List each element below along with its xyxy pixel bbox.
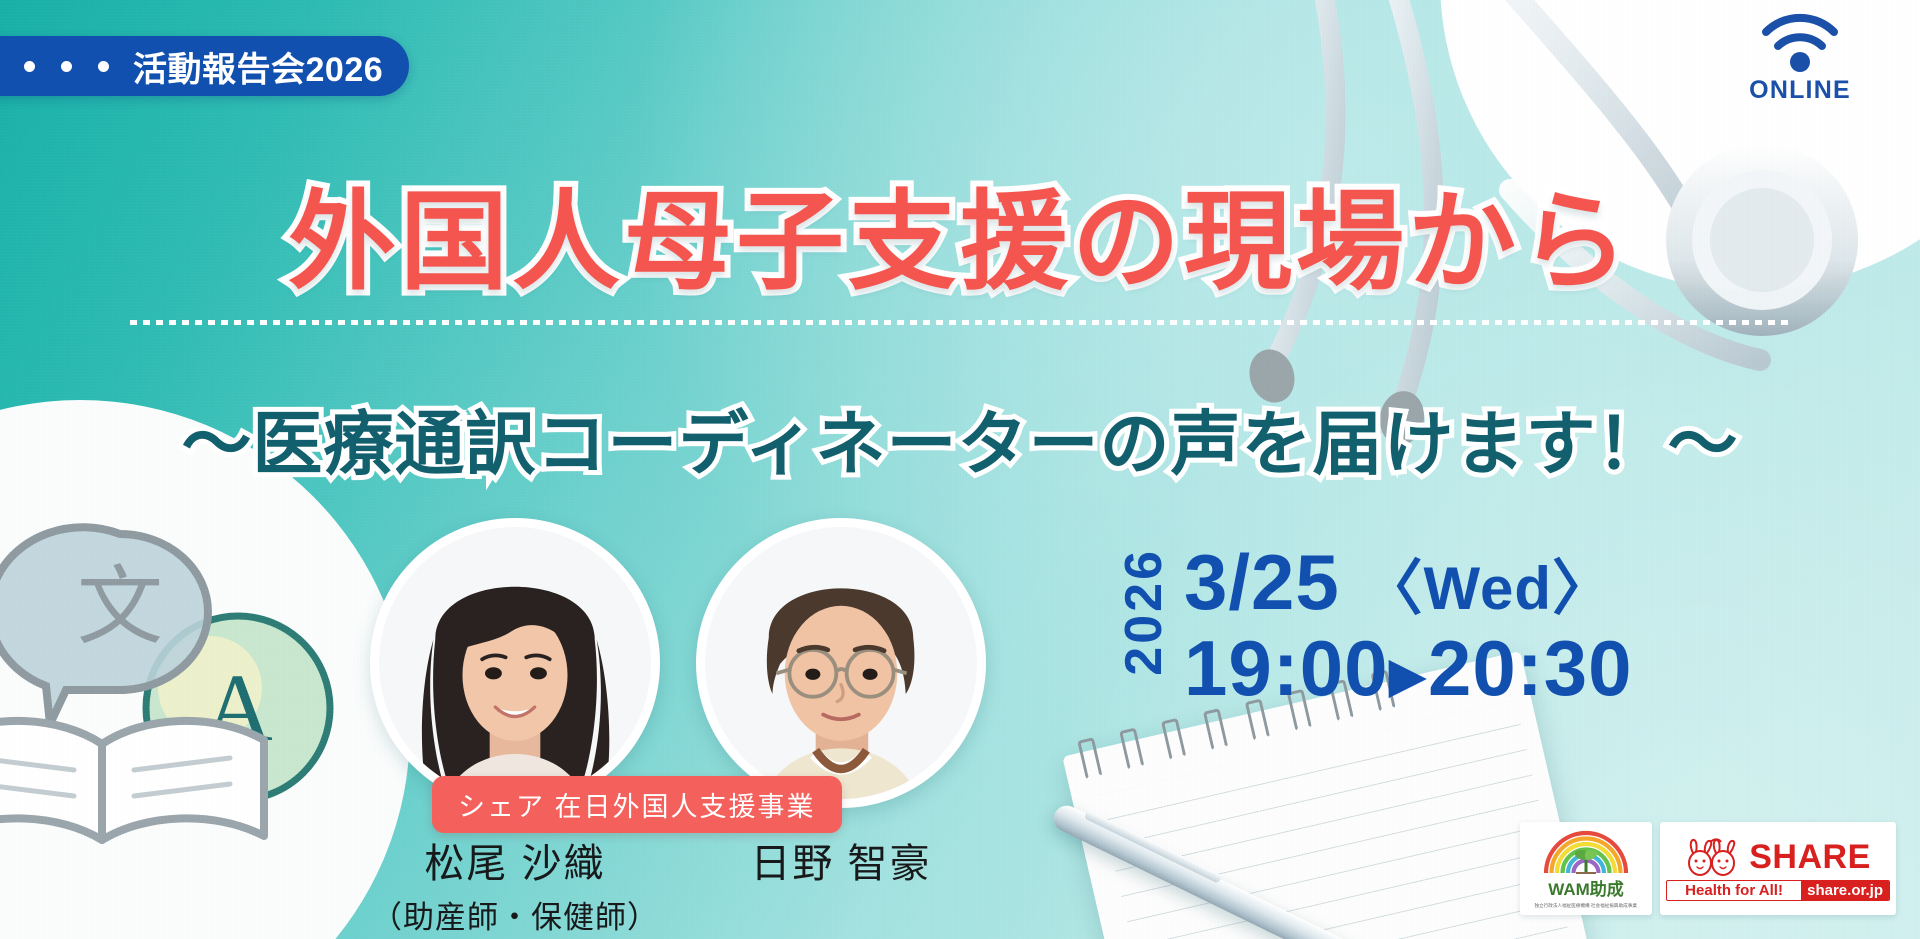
speaker-name: 日野 智豪 [696,840,986,888]
org-badge: シェア 在日外国人支援事業 [432,776,842,833]
ballpoint-pen-icon [1049,801,1384,939]
event-time-line: 19:00▶20:30 [1184,626,1632,710]
notepad-lines [1098,699,1570,939]
wam-logo: WAM助成 独立行政法人福祉医療機構 社会福祉振興助成事業 [1520,822,1652,915]
dotted-divider [130,320,1790,325]
page-subtitle: 〜医療通訳コーディネーターの声を届けます！〜 [0,406,1920,483]
speaker-name-block: 松尾 沙織 （助産師・保健師） [370,840,660,937]
ribbon-label: 活動報告会2026 [133,42,383,91]
event-time-end: 20:30 [1428,624,1633,712]
online-badge: ONLINE [1736,10,1864,105]
speaker-photos [370,518,1050,808]
event-year: 2026 [1118,548,1170,676]
report-meeting-ribbon: 活動報告会2026 [0,36,409,96]
speaker-portrait-icon [370,518,660,808]
speaker-name-block: 日野 智豪 [696,840,986,937]
share-logo: SHARE Health for All! share.or.jp [1660,822,1896,915]
share-url: share.or.jp [1801,881,1889,900]
event-datetime: 2026 3/25 〈Wed〉 19:00▶20:30 [1118,540,1632,710]
speaker-portrait-icon [696,518,986,808]
svg-text:文: 文 [77,557,163,657]
sponsor-logos: WAM助成 独立行政法人福祉医療機構 社会福祉振興助成事業 [1520,822,1896,915]
page-title: 外国人母子支援の現場から [0,184,1920,301]
online-label: ONLINE [1736,76,1864,105]
event-datetime-lines: 3/25 〈Wed〉 19:00▶20:30 [1184,540,1632,710]
three-dots-icon [24,61,109,72]
speaker-name: 松尾 沙織 [370,840,660,888]
wam-logo-label: WAM助成 [1548,880,1624,899]
event-time-start: 19:00 [1184,624,1389,712]
speaker-names: 松尾 沙織 （助産師・保健師） 日野 智豪 [370,840,1050,937]
event-poster: A 文 [0,0,1920,939]
share-logo-name: SHARE [1749,840,1871,874]
svg-text:A: A [203,654,272,761]
translation-speech-bubbles-icon: A 文 [0,440,390,860]
two-rabbits-icon [1685,837,1743,877]
speakers-section: シェア 在日外国人支援事業 松尾 沙織 （助産師・保健師） 日野 智豪 [370,518,1050,808]
event-date-line: 3/25 〈Wed〉 [1184,540,1632,624]
wifi-icon [1758,10,1842,74]
share-tagline: Health for All! [1667,881,1801,900]
event-day-of-week: 〈Wed〉 [1362,555,1613,622]
wam-logo-caption: 独立行政法人福祉医療機構 社会福祉振興助成事業 [1535,902,1637,908]
event-date: 3/25 [1184,538,1340,626]
rainbow-sprout-icon [1540,828,1632,874]
wam-logo-text: WAM助成 [1548,875,1624,900]
speaker-role: （助産師・保健師） [370,892,660,937]
share-logo-top: SHARE [1685,837,1871,877]
share-logo-bottom: Health for All! share.or.jp [1666,880,1890,901]
arrow-right-icon: ▶ [1389,647,1428,703]
